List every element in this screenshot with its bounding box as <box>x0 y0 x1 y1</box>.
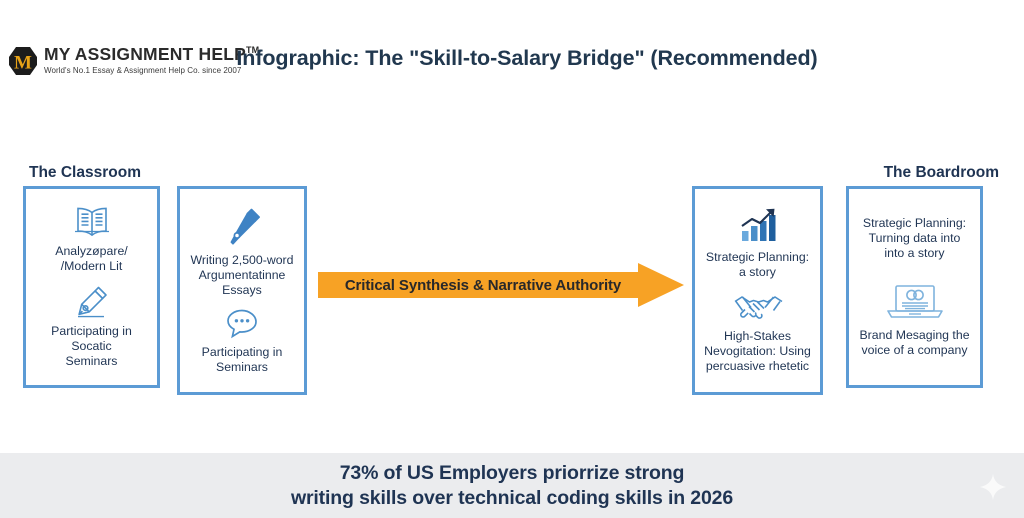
infographic-stage: The Classroom The Boardroom Analyzøpare/… <box>0 0 1024 518</box>
footer-band: 73% of US Employers priorrize strong wri… <box>0 453 1024 518</box>
group-label-boardroom: The Boardroom <box>884 164 999 182</box>
group-label-classroom: The Classroom <box>29 164 141 182</box>
transition-arrow: Critical Synthesis & Narrative Authority <box>318 263 684 307</box>
transition-arrow-label: Critical Synthesis & Narrative Authority <box>318 263 648 307</box>
card-text: Strategic Planning: a story <box>706 250 809 280</box>
handshake-icon <box>732 290 784 324</box>
card-block: Strategic Planning: a story <box>701 207 814 280</box>
card-text: Strategic Planning: Turning data into in… <box>863 216 966 261</box>
fountain-pen-icon <box>72 283 112 319</box>
card-text: Writing 2,500-word Argumentatinne Essays <box>191 253 294 298</box>
classroom-card-1[interactable]: Analyzøpare/ /Modern Lit Participating i… <box>23 186 160 388</box>
card-text: Participating in Seminars <box>202 345 283 375</box>
speech-bubble-dots-icon <box>223 306 261 340</box>
open-book-icon <box>70 205 114 239</box>
card-text: Analyzøpare/ /Modern Lit <box>55 244 127 274</box>
card-block: Participating in Socatic Seminars <box>32 283 151 369</box>
classroom-card-2[interactable]: Writing 2,500-word Argumentatinne Essays… <box>177 186 307 395</box>
laptop-icon <box>884 281 946 323</box>
card-block: High-Stakes Nevogitation: Using percuasi… <box>701 290 814 374</box>
card-text: High-Stakes Nevogitation: Using percuasi… <box>704 329 811 374</box>
card-block: Analyzøpare/ /Modern Lit <box>32 205 151 274</box>
boardroom-card-2[interactable]: Strategic Planning: Turning data into in… <box>846 186 983 388</box>
card-text: Brand Mesaging the voice of a company <box>859 328 969 358</box>
footer-statistic-text: 73% of US Employers priorrize strong wri… <box>291 461 733 511</box>
card-block: Writing 2,500-word Argumentatinne Essays <box>186 206 298 298</box>
card-block: Brand Mesaging the voice of a company <box>855 281 974 358</box>
boardroom-card-1[interactable]: Strategic Planning: a story High-Stakes … <box>692 186 823 395</box>
card-text: Participating in Socatic Seminars <box>32 324 151 369</box>
fountain-pen-tilted-icon <box>220 206 264 248</box>
card-block: Participating in Seminars <box>186 306 298 375</box>
card-block: Strategic Planning: Turning data into in… <box>855 216 974 261</box>
sparkle-icon <box>980 474 1006 500</box>
bar-chart-growth-icon <box>736 207 780 245</box>
